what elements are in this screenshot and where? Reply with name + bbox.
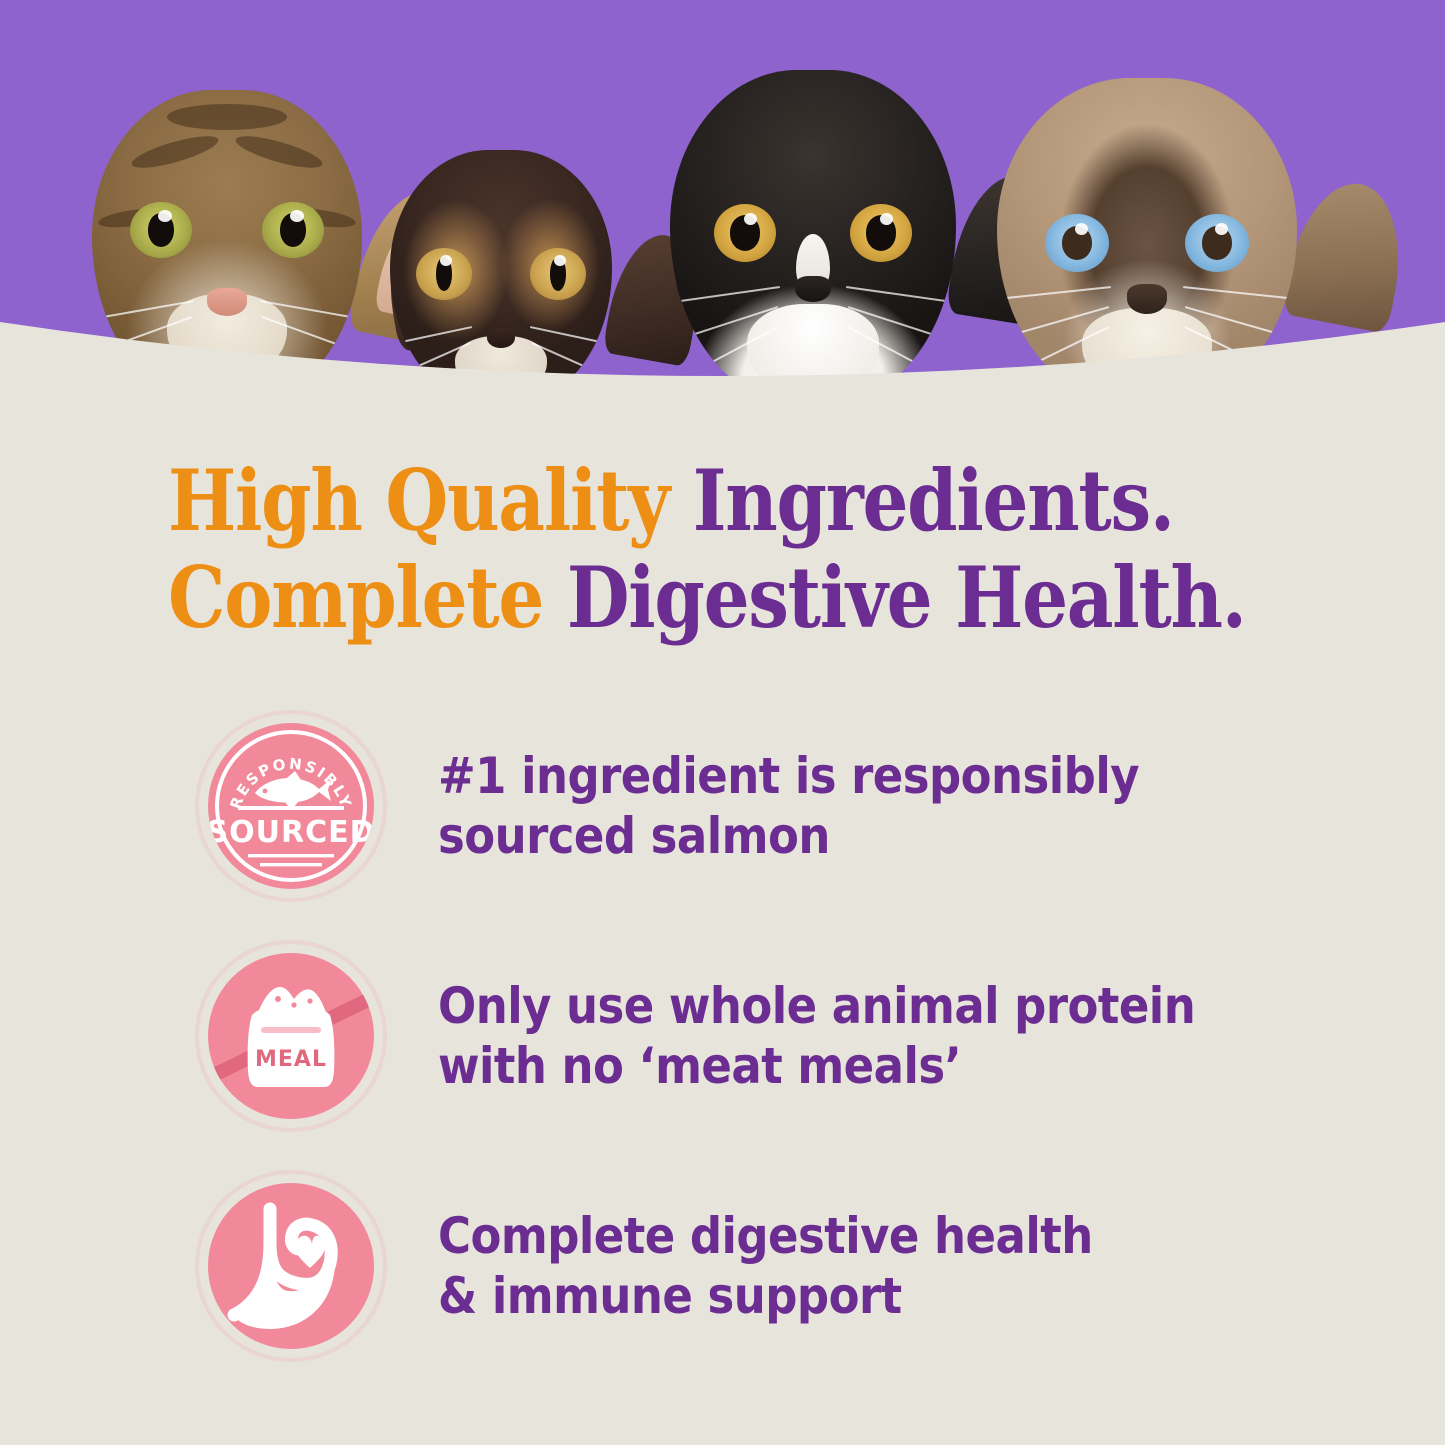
- cat-eye-right: [1185, 214, 1249, 272]
- list-item: Complete digestive health & immune suppo…: [208, 1178, 1308, 1354]
- cat-photo-hero-band: [0, 0, 1445, 400]
- no-meat-meal-bag-icon: MEAL: [208, 953, 374, 1119]
- cat-muzzle: [1082, 308, 1212, 394]
- page-title: High Quality Ingredients. Complete Diges…: [168, 452, 1166, 647]
- cat-muzzle: [747, 304, 879, 400]
- headline-line-2-purple: Digestive Health.: [567, 548, 1246, 647]
- headline-line-1-orange: High Quality: [168, 451, 693, 550]
- cats-row: [0, 0, 1445, 400]
- tortoiseshell-kitten: [372, 0, 630, 400]
- seal-point-ragdoll-cat: [978, 0, 1316, 400]
- list-item-label: #1 ingredient is responsibly sourced sal…: [438, 746, 1139, 866]
- list-item: MEAL Only use whole animal protein with …: [208, 948, 1308, 1124]
- responsibly-sourced-fish-seal-icon: RESPONSIBLY SOURCED: [208, 723, 374, 889]
- headline-line-1-purple: Ingredients.: [693, 451, 1174, 550]
- cat-eye-right: [262, 202, 324, 258]
- list-item-label: Only use whole animal protein with no ‘m…: [438, 976, 1195, 1096]
- cat-nose: [487, 328, 515, 348]
- cat-eye-left: [714, 204, 776, 262]
- svg-text:MEAL: MEAL: [255, 1047, 327, 1072]
- cat-nose: [1127, 284, 1167, 314]
- cat-head: [390, 150, 612, 400]
- cat-eye-left: [130, 202, 192, 258]
- tuxedo-cat: [648, 0, 978, 400]
- headline-line-2: Complete Digestive Health.: [168, 549, 1166, 646]
- brown-tabby-cat: [62, 0, 392, 400]
- headline-line-1: High Quality Ingredients.: [168, 452, 1166, 549]
- cat-eye-left: [416, 248, 472, 300]
- headline-line-2-orange: Complete: [168, 548, 567, 647]
- cat-head: [670, 70, 956, 400]
- cat-eye-right: [850, 204, 912, 262]
- cat-nose: [207, 288, 247, 316]
- benefits-list: RESPONSIBLY SOURCED #1 ingredient is re: [208, 718, 1308, 1354]
- list-item: RESPONSIBLY SOURCED #1 ingredient is re: [208, 718, 1308, 894]
- cat-nose: [795, 276, 831, 302]
- cat-eye-right: [530, 248, 586, 300]
- cat-head: [997, 78, 1297, 400]
- list-item-label: Complete digestive health & immune suppo…: [438, 1206, 1093, 1326]
- cat-eye-left: [1045, 214, 1109, 272]
- infographic-poster: High Quality Ingredients. Complete Diges…: [0, 0, 1445, 1445]
- stomach-heart-digestive-health-icon: [208, 1183, 374, 1349]
- svg-text:SOURCED: SOURCED: [208, 815, 374, 850]
- cat-head: [92, 90, 362, 400]
